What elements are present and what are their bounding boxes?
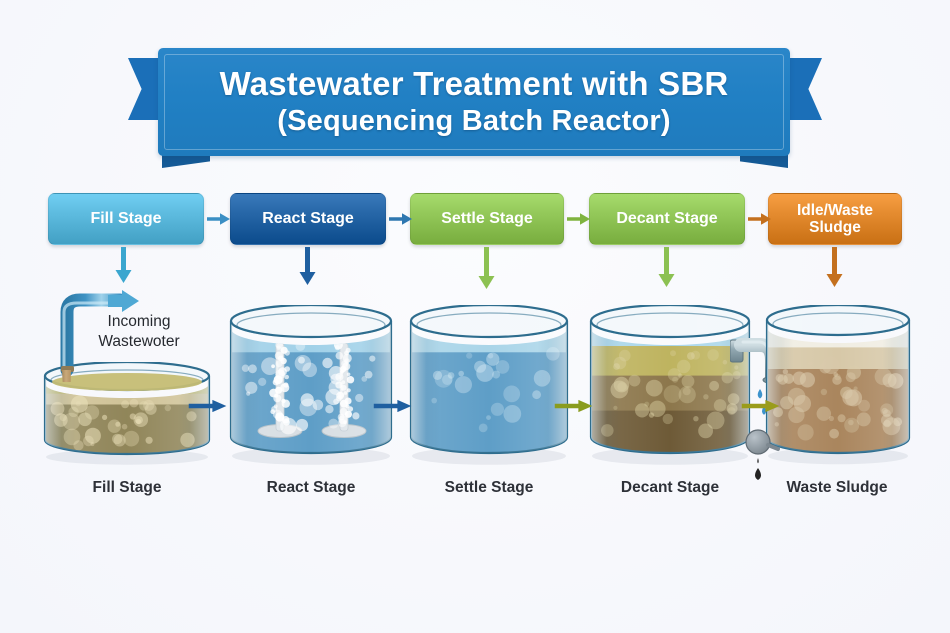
tank-label-fill: Fill Stage bbox=[44, 479, 210, 497]
incoming-wastewater-label: Incoming Wastewoter bbox=[80, 312, 198, 351]
incoming-label-line1: Incoming bbox=[80, 312, 198, 332]
diagram-canvas: Wastewater Treatment with SBR (Sequencin… bbox=[0, 0, 950, 633]
tank-label-waste: Waste Sludge bbox=[754, 479, 920, 497]
wastewater-stream bbox=[62, 370, 72, 382]
page-subtitle: (Sequencing Batch Reactor) bbox=[277, 105, 671, 137]
tank-label-decant: Decant Stage bbox=[587, 479, 753, 497]
tank-label-react: React Stage bbox=[228, 479, 394, 497]
tank-label-settle: Settle Stage bbox=[406, 479, 572, 497]
incoming-label-line2: Wastewoter bbox=[80, 332, 198, 352]
page-title: Wastewater Treatment with SBR bbox=[220, 66, 729, 103]
pipe-flow-arrow bbox=[108, 290, 139, 312]
